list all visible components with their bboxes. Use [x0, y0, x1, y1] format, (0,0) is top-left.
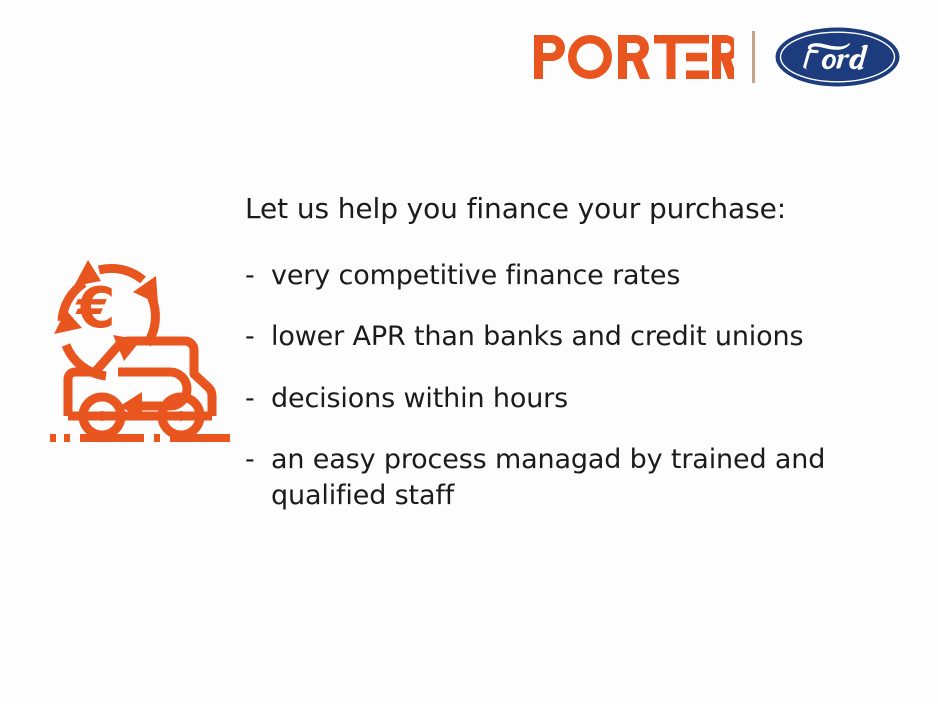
bullet-marker: - [245, 258, 271, 294]
list-item: - an easy process managad by trained and… [245, 442, 885, 513]
list-item-label: lower APR than banks and credit unions [271, 319, 803, 355]
list-item-label: an easy process managad by trained and q… [271, 442, 871, 513]
list-item-label: very competitive finance rates [271, 258, 680, 294]
list-item: - lower APR than banks and credit unions [245, 319, 885, 355]
page-title: Let us help you finance your purchase: [245, 192, 885, 226]
ford-logo [775, 27, 900, 87]
list-item: - decisions within hours [245, 381, 885, 417]
finance-content: Let us help you finance your purchase: -… [245, 192, 885, 514]
benefits-list: - very competitive finance rates - lower… [245, 258, 885, 514]
list-item: - very competitive finance rates [245, 258, 885, 294]
bullet-marker: - [245, 319, 271, 355]
porter-wordmark [534, 35, 734, 79]
slide-canvas: € [0, 0, 938, 704]
brand-logo-lockup [534, 22, 900, 92]
bullet-marker: - [245, 381, 271, 417]
car-finance-euro-icon: € [44, 248, 234, 448]
list-item-label: decisions within hours [271, 381, 568, 417]
euro-symbol: € [75, 276, 116, 341]
bullet-marker: - [245, 442, 271, 478]
logo-divider [752, 31, 755, 83]
